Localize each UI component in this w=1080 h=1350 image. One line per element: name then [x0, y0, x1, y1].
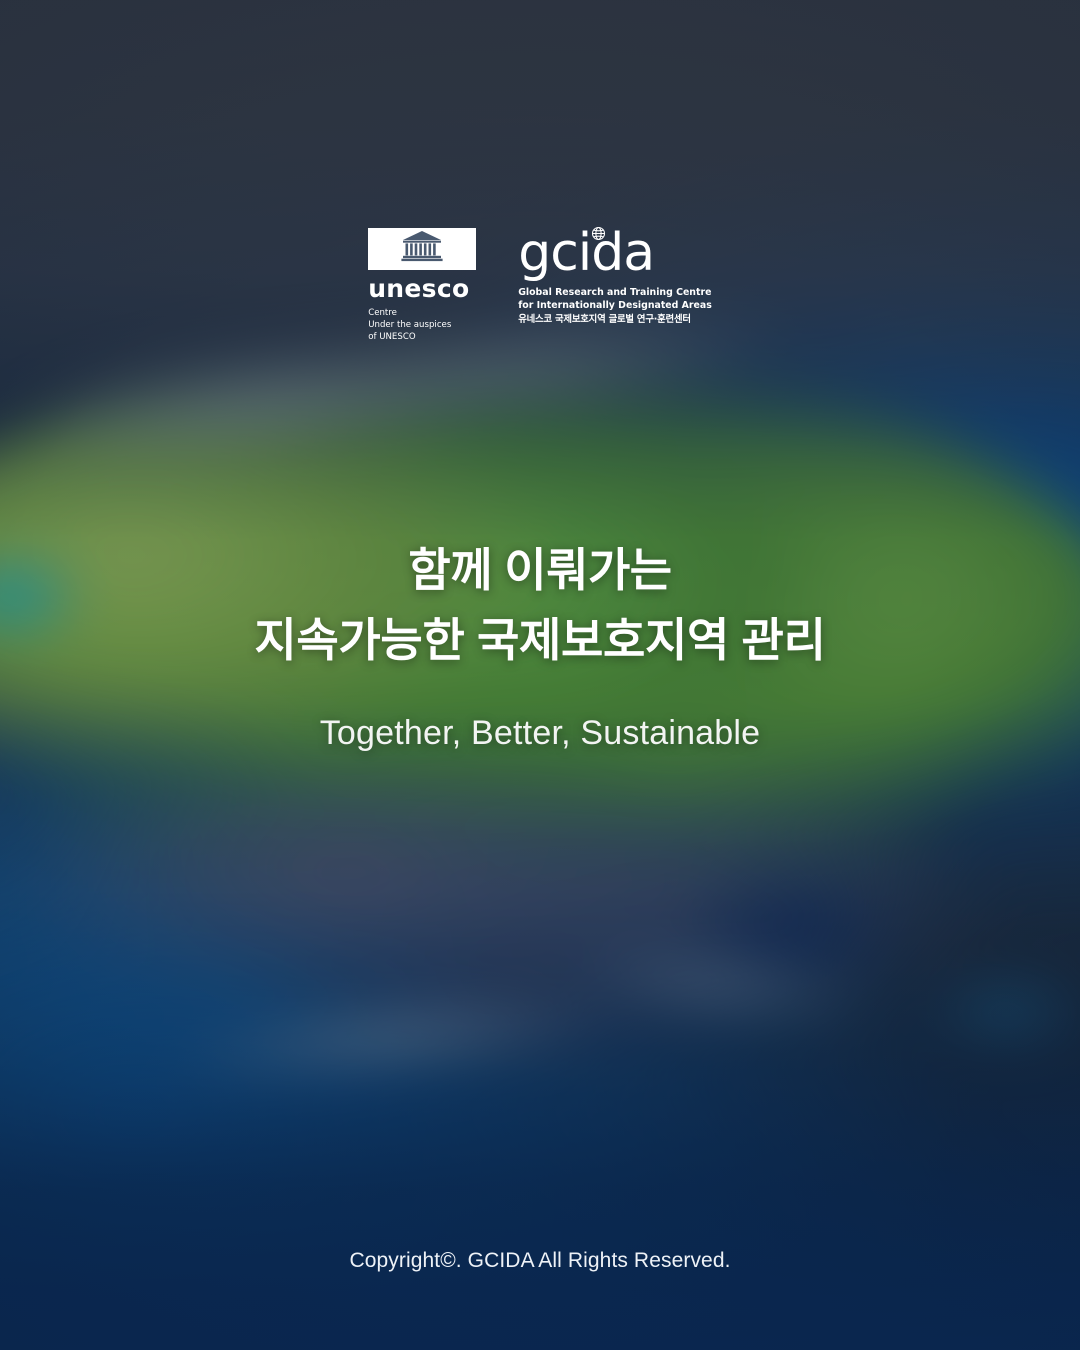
gcida-wordmark: gcida [518, 230, 654, 278]
gcida-logo[interactable]: gcida Glo [518, 228, 712, 326]
gcida-wordmark-row: gcida [518, 230, 654, 278]
landing-page: unesco Centre Under the auspices of UNES… [0, 0, 1080, 1350]
unesco-caption-line-3: of UNESCO [368, 332, 451, 344]
gcida-caption: Global Research and Training Centre for … [518, 286, 712, 326]
unesco-caption-line-2: Under the auspices [368, 320, 451, 332]
headline-line-2: 지속가능한 국제보호지역 관리 [0, 606, 1080, 676]
headline-line-1: 함께 이뤄가는 [0, 536, 1080, 606]
unesco-temple-icon [399, 229, 445, 268]
gcida-caption-line-2: for Internationally Designated Areas [518, 299, 712, 312]
unesco-logo[interactable]: unesco Centre Under the auspices of UNES… [368, 228, 480, 344]
gcida-caption-line-3: 유네스코 국제보호지역 글로벌 연구·훈련센터 [518, 313, 712, 326]
hero-tagline: Together, Better, Sustainable [0, 714, 1080, 753]
logo-lockup: unesco Centre Under the auspices of UNES… [0, 228, 1080, 344]
gcida-caption-line-1: Global Research and Training Centre [518, 286, 712, 299]
unesco-caption: Centre Under the auspices of UNESCO [368, 308, 451, 344]
unesco-wordmark: unesco [368, 276, 469, 301]
unesco-caption-line-1: Centre [368, 308, 451, 320]
page-content: unesco Centre Under the auspices of UNES… [0, 0, 1080, 1350]
hero-headline: 함께 이뤄가는 지속가능한 국제보호지역 관리 [0, 536, 1080, 676]
globe-icon [591, 226, 606, 241]
footer-copyright: Copyright©. GCIDA All Rights Reserved. [0, 1249, 1080, 1273]
unesco-emblem-box [368, 228, 476, 270]
